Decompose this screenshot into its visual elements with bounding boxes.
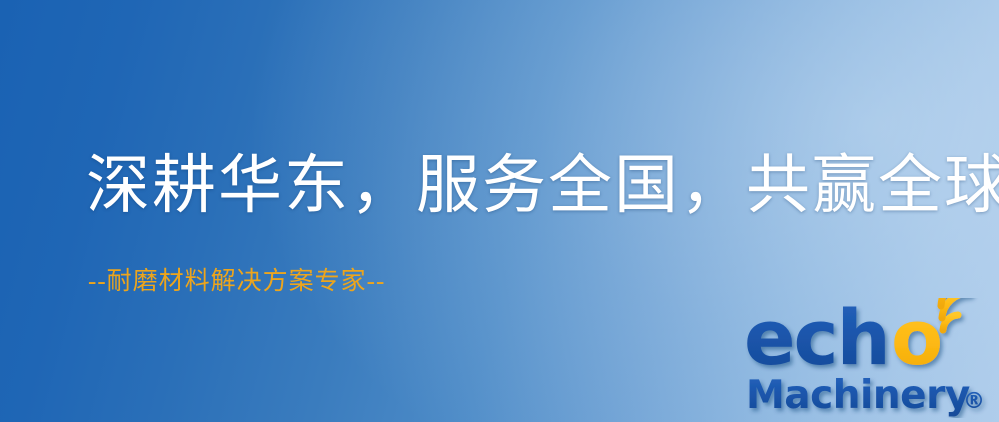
svg-text:®: ®: [963, 389, 985, 414]
echo-machinery-logo[interactable]: ech o Machinery ®: [744, 298, 996, 418]
logo-echo-gold-o: o: [891, 298, 943, 382]
logo-tagline: Machinery ®: [746, 373, 985, 418]
logo-echo-blue-letters: ech: [744, 298, 889, 382]
promo-banner: 深耕华东，服务全国，共赢全球 --耐磨材料解决方案专家--: [0, 0, 999, 422]
svg-text:o: o: [891, 298, 943, 382]
banner-headline: 深耕华东，服务全国，共赢全球: [86, 146, 999, 226]
logo-signal-wave-arcs: [941, 298, 980, 330]
svg-text:Machinery: Machinery: [746, 373, 970, 418]
banner-subheadline: --耐磨材料解决方案专家--: [88, 266, 385, 298]
svg-text:ech: ech: [744, 298, 889, 382]
